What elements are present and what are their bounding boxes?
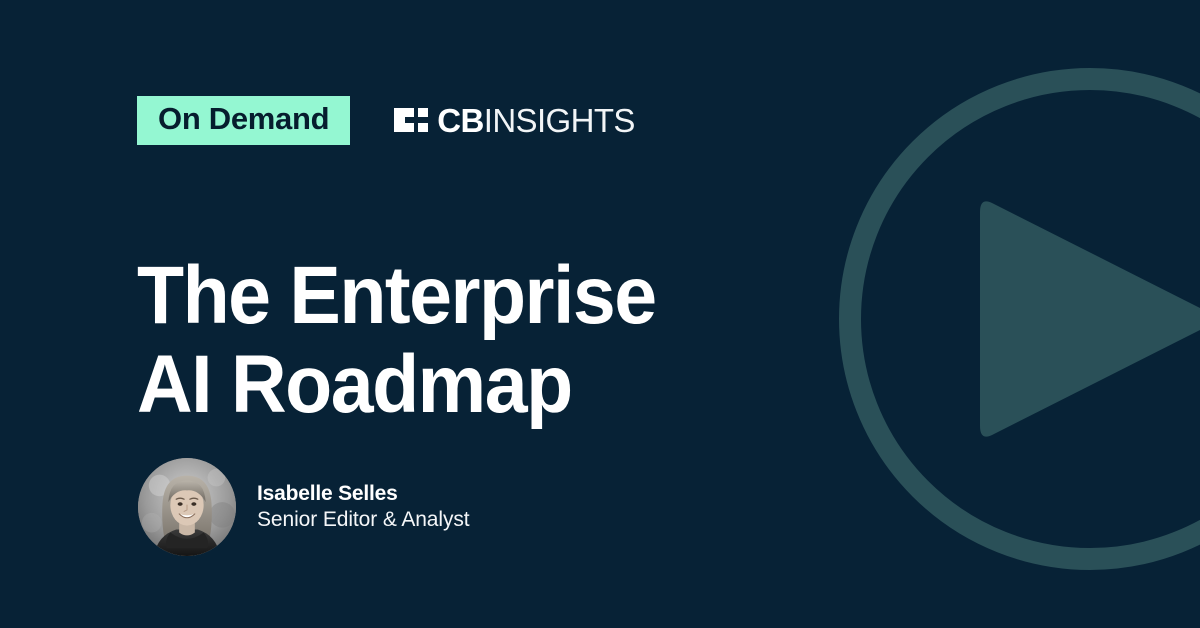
content-column: On Demand CBINSIGHTS The Enterprise AI R… bbox=[137, 0, 837, 628]
presenter-block: Isabelle Selles Senior Editor & Analyst bbox=[138, 458, 469, 556]
on-demand-badge: On Demand bbox=[137, 96, 350, 145]
cbinsights-logo: CBINSIGHTS bbox=[394, 104, 635, 137]
page-title: The Enterprise AI Roadmap bbox=[137, 251, 656, 430]
header-row: On Demand CBINSIGHTS bbox=[137, 96, 635, 145]
presenter-name: Isabelle Selles bbox=[257, 482, 469, 507]
logo-insights-text: INSIGHTS bbox=[484, 102, 635, 139]
presenter-role: Senior Editor & Analyst bbox=[257, 508, 469, 533]
cbinsights-mark-icon bbox=[394, 108, 428, 132]
promo-card: On Demand CBINSIGHTS The Enterprise AI R… bbox=[0, 0, 1200, 628]
avatar bbox=[138, 458, 236, 556]
logo-cb-text: CB bbox=[437, 102, 483, 139]
presenter-details: Isabelle Selles Senior Editor & Analyst bbox=[257, 482, 469, 533]
cbinsights-wordmark: CBINSIGHTS bbox=[437, 104, 635, 137]
play-circle-icon bbox=[823, 57, 1200, 581]
